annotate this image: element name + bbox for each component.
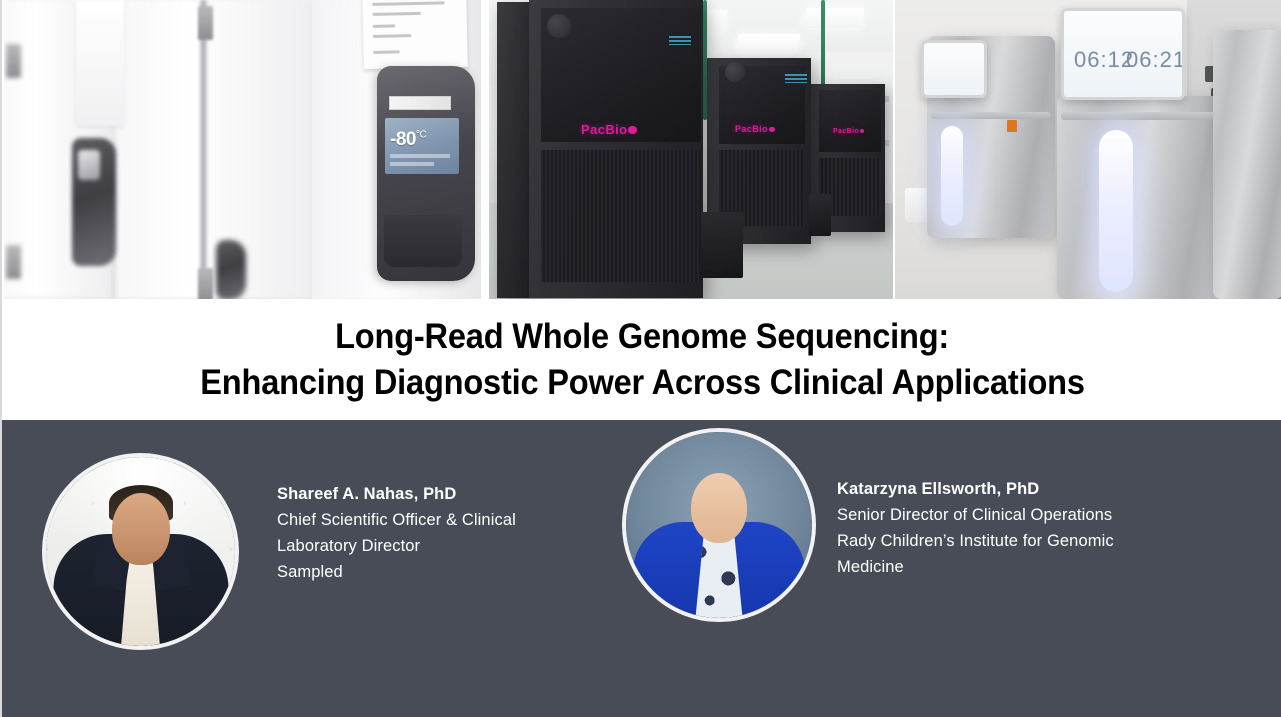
header-photo-band: -80°C [2,0,1281,299]
page-title-line-2: Enhancing Diagnostic Power Across Clinic… [200,360,1084,406]
freezer-temperature-unit: °C [416,130,426,141]
sequencer-screen-back [921,40,987,98]
speaker-block-1: Shareef A. Nahas, PhD Chief Scientific O… [2,420,622,717]
speaker-role-line-2a: Senior Director of Clinical Operations [837,502,1217,528]
speaker-role-line-1b: Laboratory Director [277,533,607,559]
photo-illumina-sequencers: 06:12 06:21 [895,0,1281,299]
photo-pacbio-sequencers: PacBio PacBio Pa [489,0,893,299]
sequencer-screen-front: 06:12 06:21 [1061,8,1185,100]
speakers-band: Shareef A. Nahas, PhD Chief Scientific O… [2,420,1281,717]
pacbio-logo-far: PacBio [833,128,864,135]
freezer-temperature-display: -80°C [385,118,459,174]
speaker-name-2: Katarzyna Ellsworth, PhD [837,476,1217,502]
speaker-org-line-2a: Rady Children’s Institute for Genomic [837,528,1217,554]
presentation-slide: -80°C [0,0,1281,717]
freezer-control-panel: -80°C [377,66,475,281]
speaker-org-line-2b: Medicine [837,554,1217,580]
speaker-org-line-1: Sampled [277,559,607,585]
speaker-name-1: Shareef A. Nahas, PhD [277,481,607,507]
freezer-paper-note [362,0,468,69]
title-band: Long-Read Whole Genome Sequencing: Enhan… [2,299,1281,420]
speaker-details-1: Shareef A. Nahas, PhD Chief Scientific O… [277,481,607,585]
run-timer-right: 06:21 [1126,47,1185,73]
freezer-temperature-value: -80 [390,129,416,150]
photo-ultra-low-temperature-freezers: -80°C [4,0,481,299]
avatar-katarzyna-ellsworth [622,428,816,622]
page-title-line-1: Long-Read Whole Genome Sequencing: [336,314,950,360]
speaker-details-2: Katarzyna Ellsworth, PhD Senior Director… [837,476,1217,580]
pacbio-logo-middle: PacBio [735,124,775,134]
speaker-block-2: Katarzyna Ellsworth, PhD Senior Director… [622,420,1281,717]
avatar-shareef-nahas [42,453,239,650]
pacbio-logo-front: PacBio [581,122,637,137]
speaker-role-line-1a: Chief Scientific Officer & Clinical [277,507,607,533]
